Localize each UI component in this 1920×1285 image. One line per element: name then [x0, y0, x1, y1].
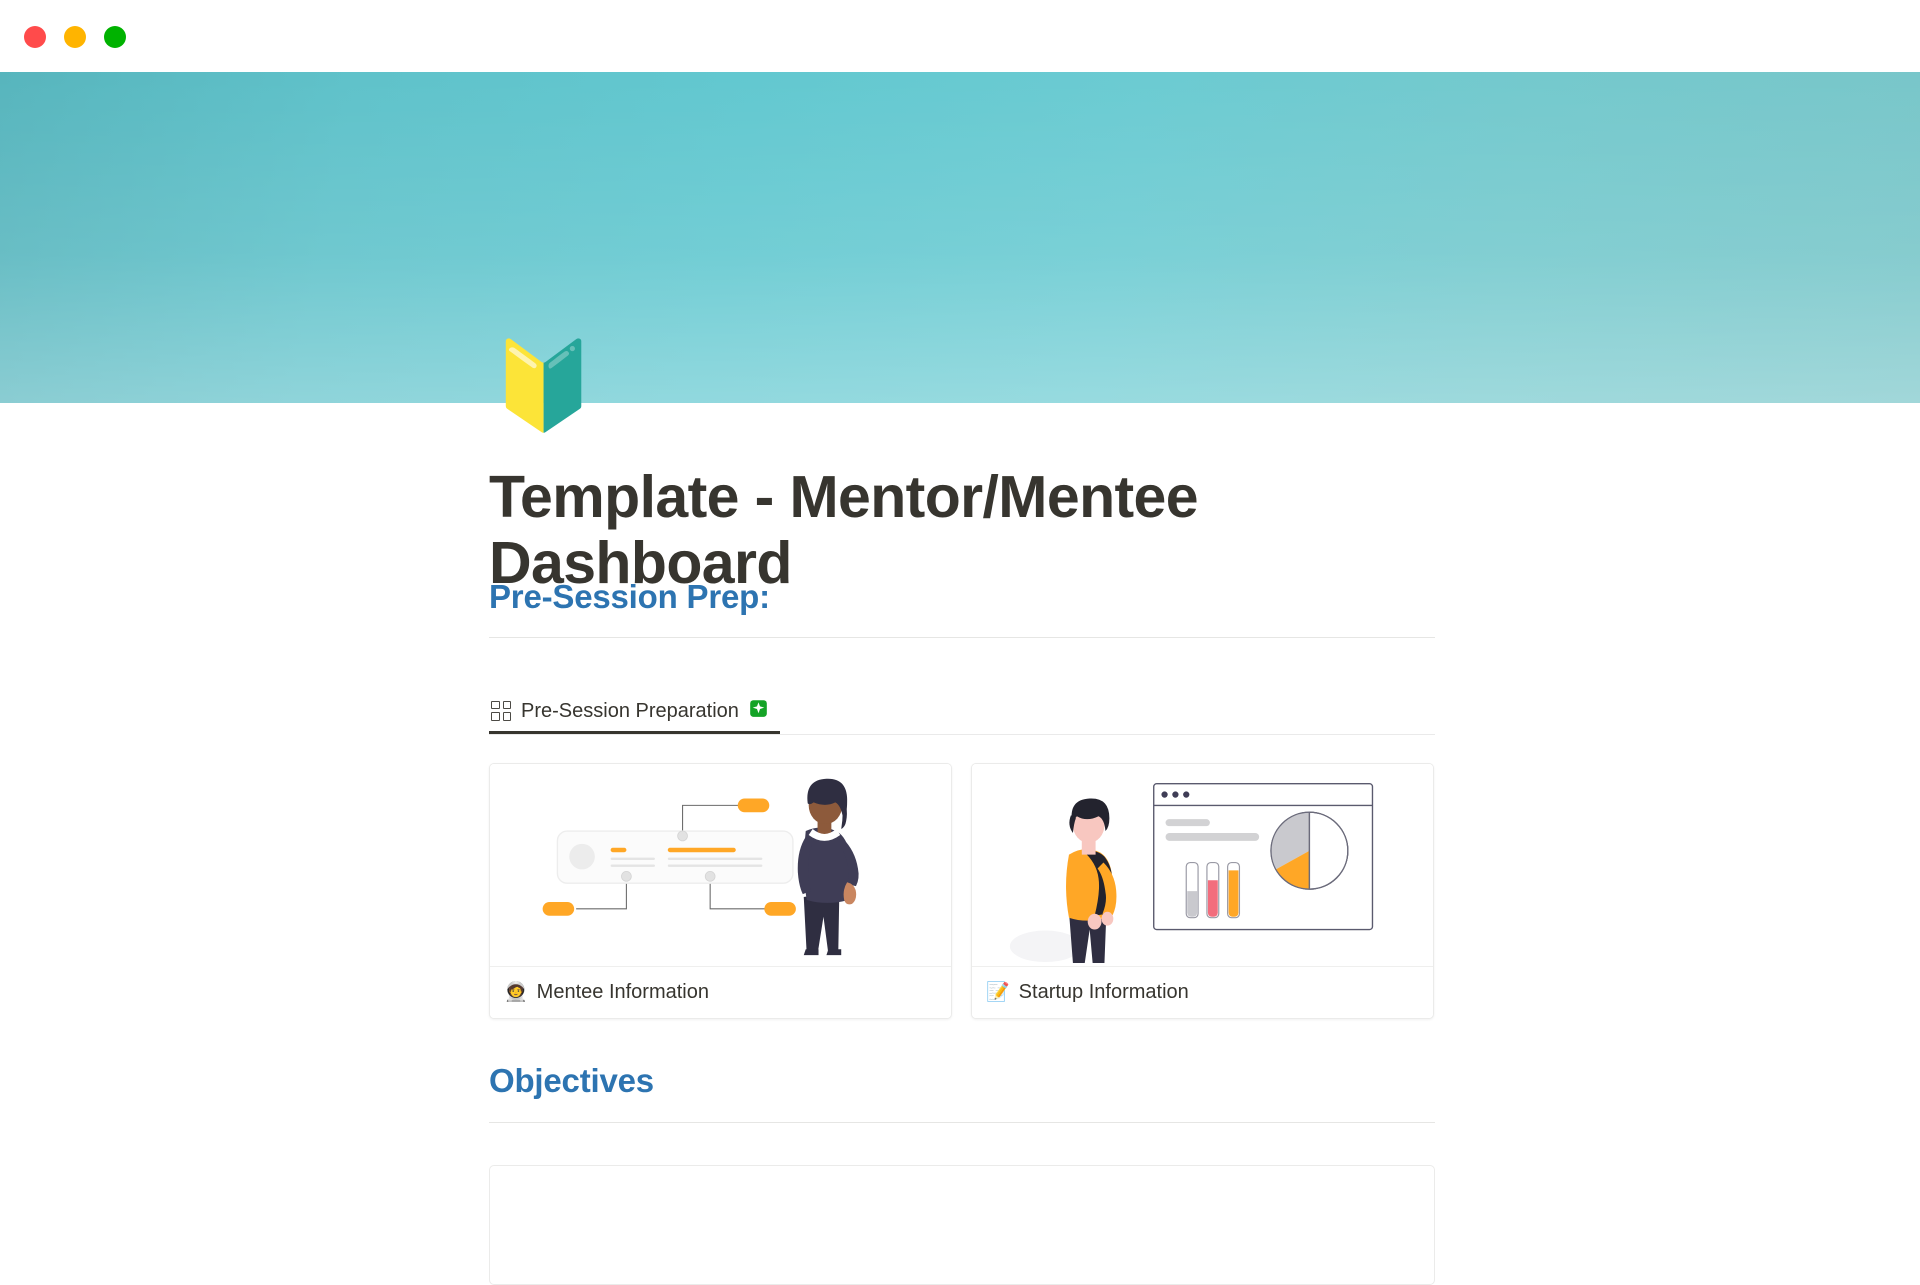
section-divider-pre-session	[489, 637, 1435, 638]
card-footer: 📝 Startup Information	[972, 967, 1433, 1018]
gallery-card-mentee-information[interactable]: 🧑‍🚀 Mentee Information	[489, 763, 952, 1019]
page-content: 🔰 Template - Mentor/Mentee Dashboard Pre…	[0, 0, 1920, 1200]
gallery-card-partial[interactable]	[489, 1165, 1435, 1285]
tab-label: Pre-Session Preparation	[521, 701, 739, 721]
memo-icon: 📝	[986, 983, 1010, 1002]
astronaut-icon: 🧑‍🚀	[504, 983, 528, 1002]
card-cover-illustration	[490, 764, 951, 967]
page-icon[interactable]: 🔰	[490, 336, 590, 436]
section-divider-objectives	[489, 1122, 1435, 1123]
section-heading-pre-session[interactable]: Pre-Session Prep:	[489, 578, 1435, 616]
green-sparkle-icon	[749, 699, 768, 722]
gallery-view: 🧑‍🚀 Mentee Information	[489, 763, 1435, 1019]
page-title[interactable]: Template - Mentor/Mentee Dashboard	[489, 464, 1449, 596]
grid-view-icon	[491, 701, 511, 721]
card-title: Startup Information	[1019, 981, 1189, 1004]
view-tab-bar: Pre-Session Preparation	[489, 690, 1435, 735]
card-title: Mentee Information	[537, 981, 709, 1004]
tab-pre-session-preparation[interactable]: Pre-Session Preparation	[489, 690, 780, 734]
card-cover-illustration	[972, 764, 1433, 967]
card-footer: 🧑‍🚀 Mentee Information	[490, 967, 951, 1018]
section-heading-objectives[interactable]: Objectives	[489, 1062, 1435, 1100]
gallery-card-startup-information[interactable]: 📝 Startup Information	[971, 763, 1434, 1019]
